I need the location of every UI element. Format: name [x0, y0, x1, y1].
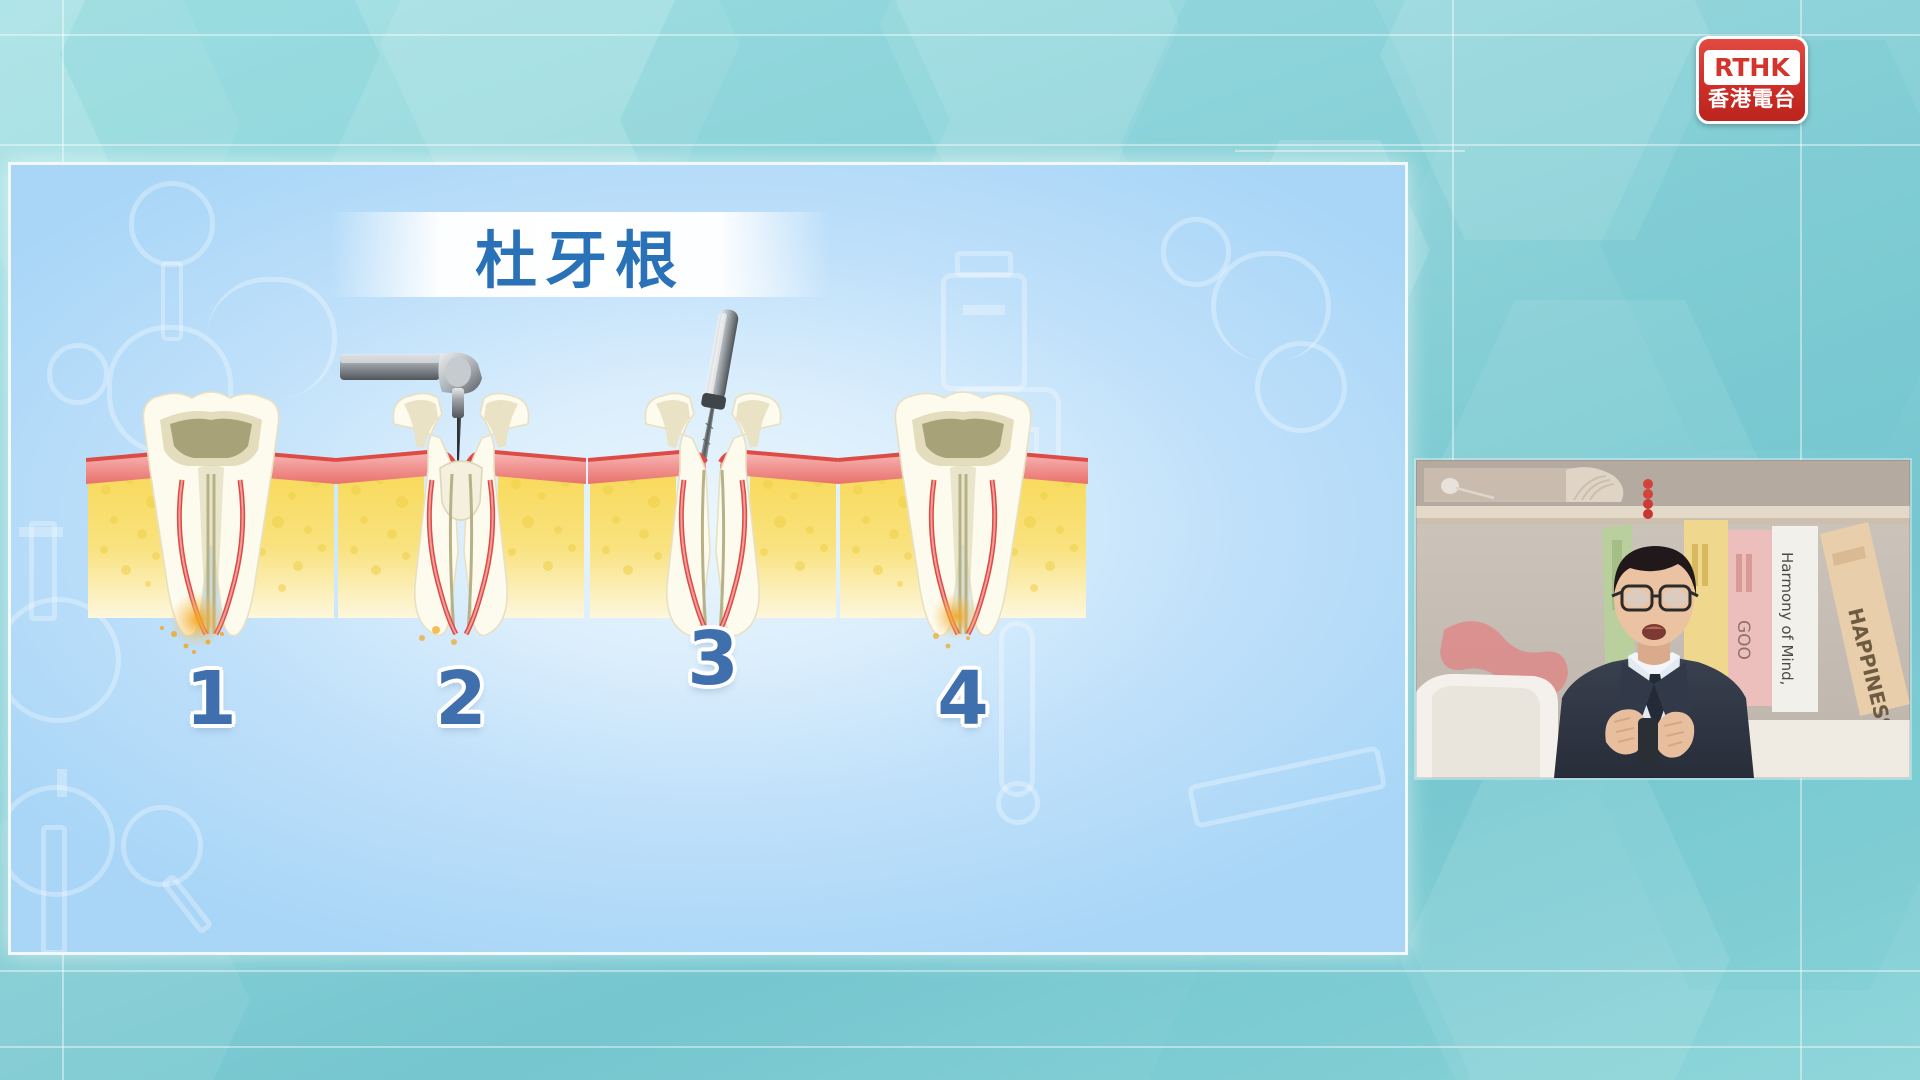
bg-guide-line: [0, 1046, 1920, 1048]
infection-spot: [932, 592, 980, 640]
bg-guide-line: [1235, 150, 1465, 152]
tooth-illustration: [838, 384, 1088, 654]
tooth-stage-row: 1: [8, 162, 1408, 955]
stage-number-1: 1: [86, 656, 336, 742]
bg-guide-line: [0, 34, 1920, 36]
rthk-logo-box: RTHK: [1704, 50, 1800, 85]
stage-number-2: 2: [336, 656, 586, 742]
rthk-logo-zh-text: 香港電台: [1708, 89, 1796, 110]
video-frame: GOO Harmony of Mind, HAPPINESS: [1416, 460, 1910, 778]
book-title: Harmony of Mind,: [1778, 552, 1796, 685]
rthk-logo-en-text: RTHK: [1714, 55, 1789, 80]
tooth-diagram-4: [838, 384, 1088, 654]
infection-spot: [170, 592, 226, 648]
tooth-diagram-1: [86, 384, 336, 654]
rthk-logo: RTHK 香港電台: [1696, 36, 1808, 124]
stage-number-4: 4: [838, 656, 1088, 742]
tooth-illustration: [86, 384, 336, 654]
presenter-video-feed[interactable]: GOO Harmony of Mind, HAPPINESS: [1416, 460, 1910, 778]
bg-guide-line: [0, 144, 1920, 146]
book-title: GOO: [1733, 620, 1753, 660]
tooth-illustration: [588, 302, 838, 654]
tooth-diagram-2: [336, 342, 586, 654]
bg-guide-line: [0, 970, 1920, 972]
tooth-illustration: [336, 342, 586, 654]
stage-number-3: 3: [588, 616, 838, 702]
tooth-diagram-3: [588, 302, 838, 654]
bg-guide-line: [1452, 0, 1454, 460]
